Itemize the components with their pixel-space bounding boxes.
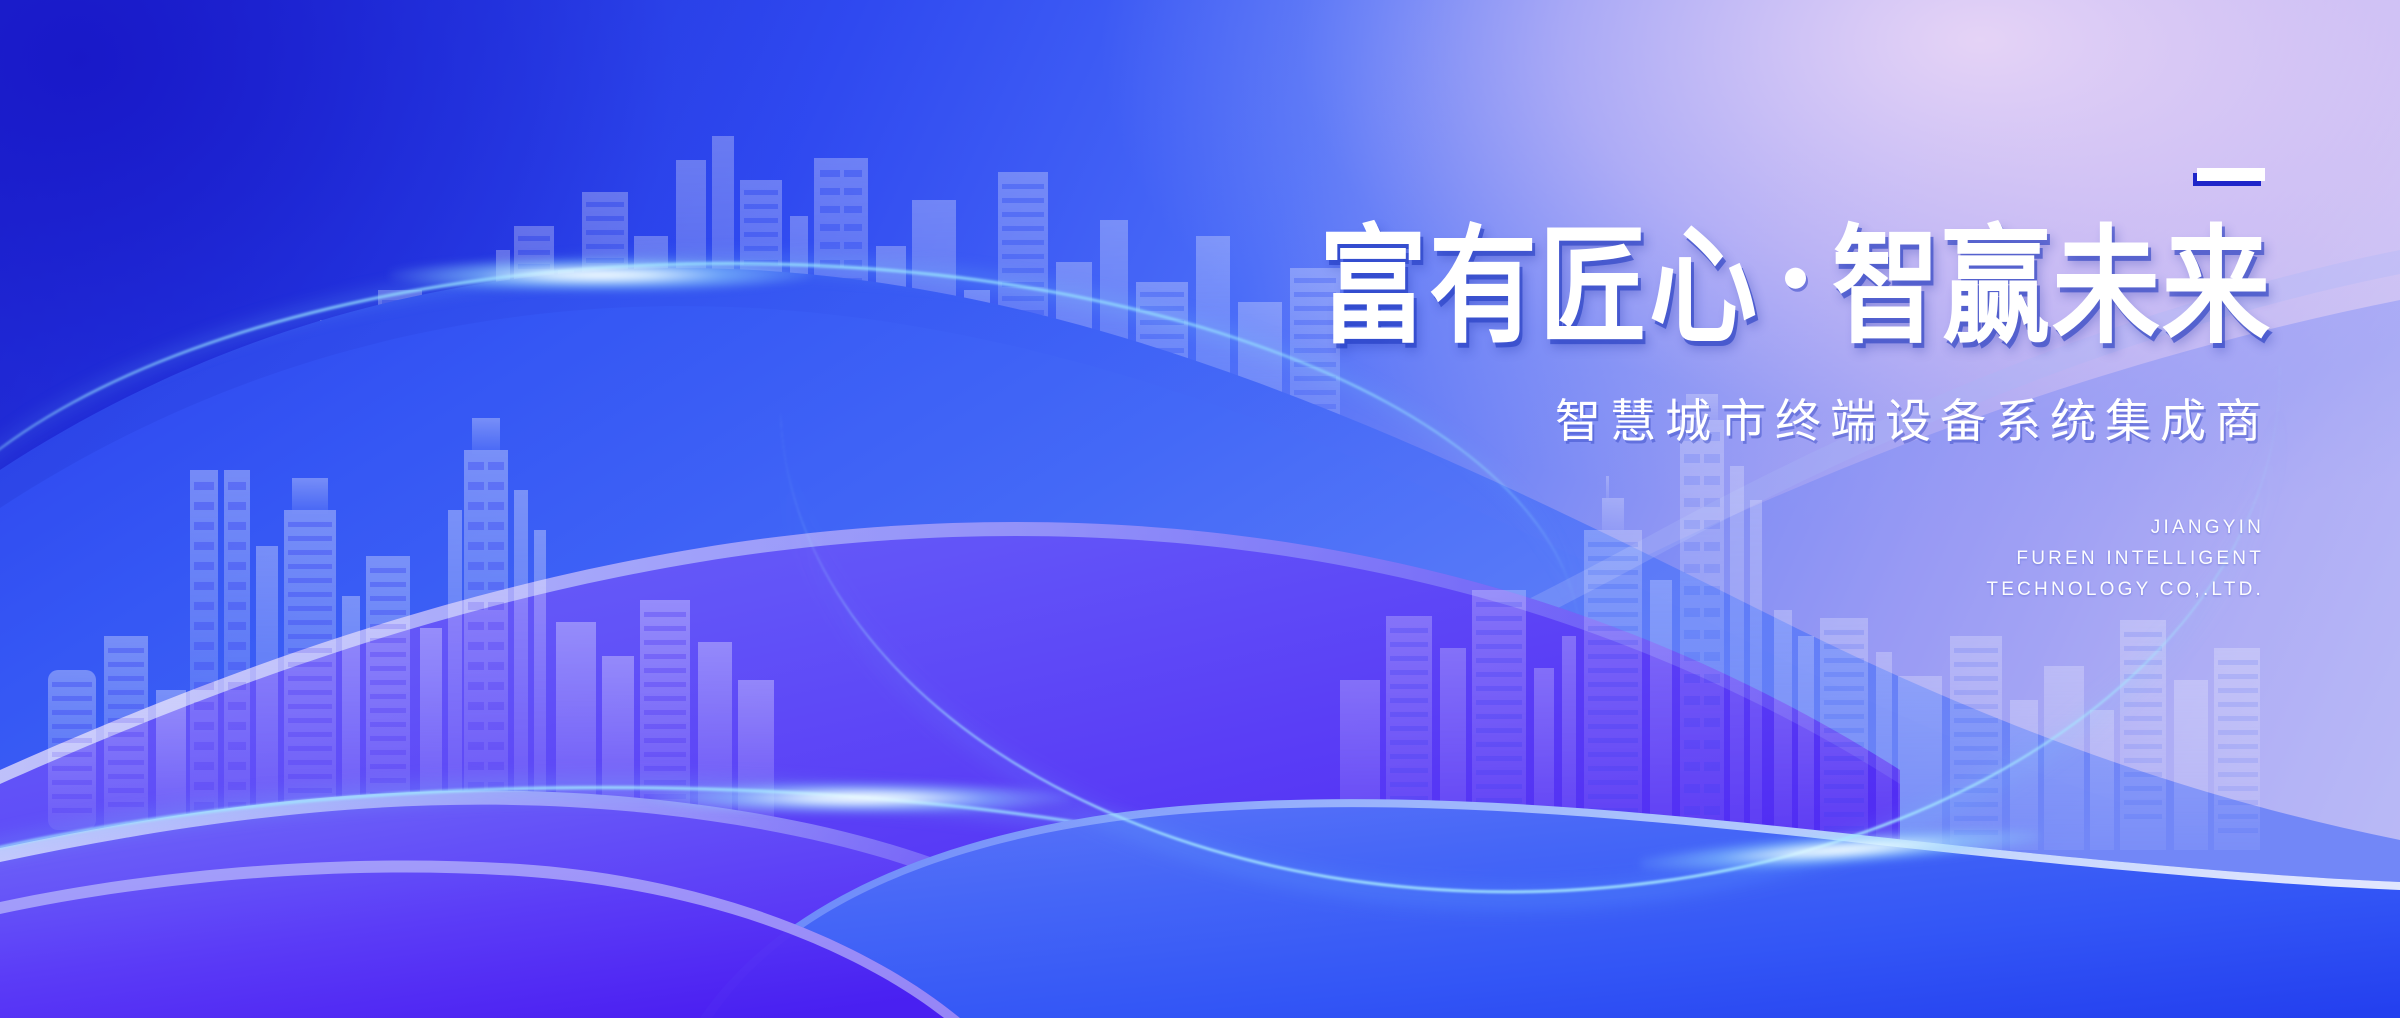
company-line-1: JIANGYIN: [1152, 513, 2264, 544]
page-subtitle: 智慧城市终端设备系统集成商: [1152, 385, 2272, 451]
headline-part-1: 富有匠心: [1319, 220, 1759, 354]
headline-part-2: 智赢未来: [1832, 220, 2272, 354]
banner-root: 富有匠心 智赢未来 智慧城市终端设备系统集成商 JIANGYIN FUREN I…: [0, 0, 2400, 1018]
company-line-2: FUREN INTELLIGENT: [1152, 544, 2264, 575]
dash-mark-icon: [2197, 168, 2265, 181]
company-name-block: JIANGYIN FUREN INTELLIGENT TECHNOLOGY CO…: [1152, 513, 2272, 605]
headline-text-block: 富有匠心 智赢未来 智慧城市终端设备系统集成商 JIANGYIN FUREN I…: [1152, 168, 2272, 606]
page-title: 富有匠心 智赢未来: [1152, 220, 2272, 354]
company-line-3: TECHNOLOGY CO,.LTD.: [1152, 575, 2264, 606]
headline-separator-dot-icon: [1785, 268, 1806, 289]
